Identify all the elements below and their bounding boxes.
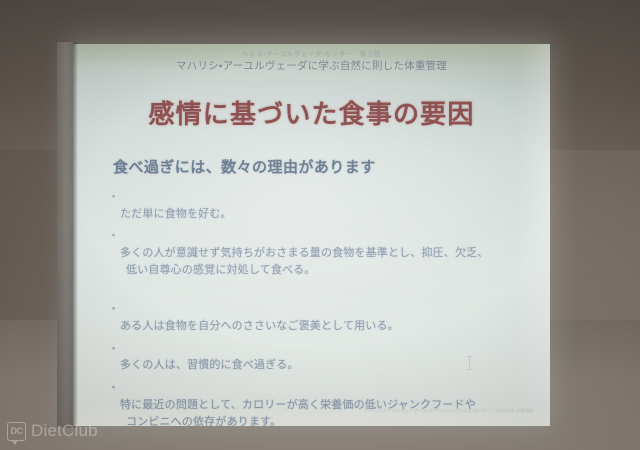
slide-header-main: マハリシ・アーユルヴェーダに学ぶ自然に則した体重管理 [73, 60, 550, 73]
bullet-line-primary: ただ単に食物を好む。 [120, 208, 232, 220]
list-item: ただ単に食物を好む。 [109, 189, 529, 222]
watermark: DC DietClub [7, 421, 98, 441]
bullet-list: ただ単に食物を好む。 多くの人が意識せず気持ちがおさまる量の食物を基準とし、抑圧… [109, 189, 529, 426]
slide-content: ヘルス・アーユルヴェーダ・センター 第三回 マハリシ・アーユルヴェーダに学ぶ自然… [73, 44, 550, 426]
slide-subtitle: 食べ過ぎには、数々の理由があります [113, 156, 376, 177]
slide-title: 感情に基づいた食事の要因 [73, 94, 550, 131]
bullet-line-primary: 多くの人が意識せず気持ちがおさまる量の食物を基準とし、抑圧、欠乏、 [120, 247, 488, 259]
list-item: 多くの人は、習慣的に食べ過ぎる。 [109, 341, 529, 374]
bullet-line-continued: 低い自尊心の感覚に対処して食べる。 [120, 262, 529, 279]
dietclub-logo-icon: DC [7, 422, 26, 441]
dietclub-logo-text: DC [11, 427, 23, 436]
list-item: 特に最近の問題として、カロリーが高く栄養価の低いジャンクフードや コンビニへの依… [109, 380, 529, 426]
slide-footer: マハリシ・アーユルヴェーダ・ヘルス・アンド・ウェルネス・センター 2008年度 … [363, 408, 534, 414]
projection-screen: ヘルス・アーユルヴェーダ・センター 第三回 マハリシ・アーユルヴェーダに学ぶ自然… [73, 44, 550, 426]
screen-frame-shadow [73, 42, 78, 428]
dietclub-brand-text: DietClub [31, 421, 98, 441]
list-item: 多くの人が意識せず気持ちがおさまる量の食物を基準とし、抑圧、欠乏、 低い自尊心の… [109, 228, 529, 295]
bullet-line-primary: ある人は食物を自分へのささいなご褒美として用いる。 [120, 320, 399, 332]
slide-header-eyebrow: ヘルス・アーユルヴェーダ・センター 第三回 [73, 51, 550, 59]
screen-frame-strip [57, 42, 73, 428]
list-item: ある人は食物を自分へのささいなご褒美として用いる。 [109, 301, 529, 334]
bullet-line-primary: 多くの人は、習慣的に食べ過ぎる。 [120, 359, 299, 371]
slide-header: ヘルス・アーユルヴェーダ・センター 第三回 マハリシ・アーユルヴェーダに学ぶ自然… [73, 51, 550, 73]
text-cursor-icon [467, 356, 472, 370]
bullet-line-continued: コンビニへの依存があります。 [120, 414, 529, 426]
photograph: ヘルス・アーユルヴェーダ・センター 第三回 マハリシ・アーユルヴェーダに学ぶ自然… [0, 0, 640, 450]
